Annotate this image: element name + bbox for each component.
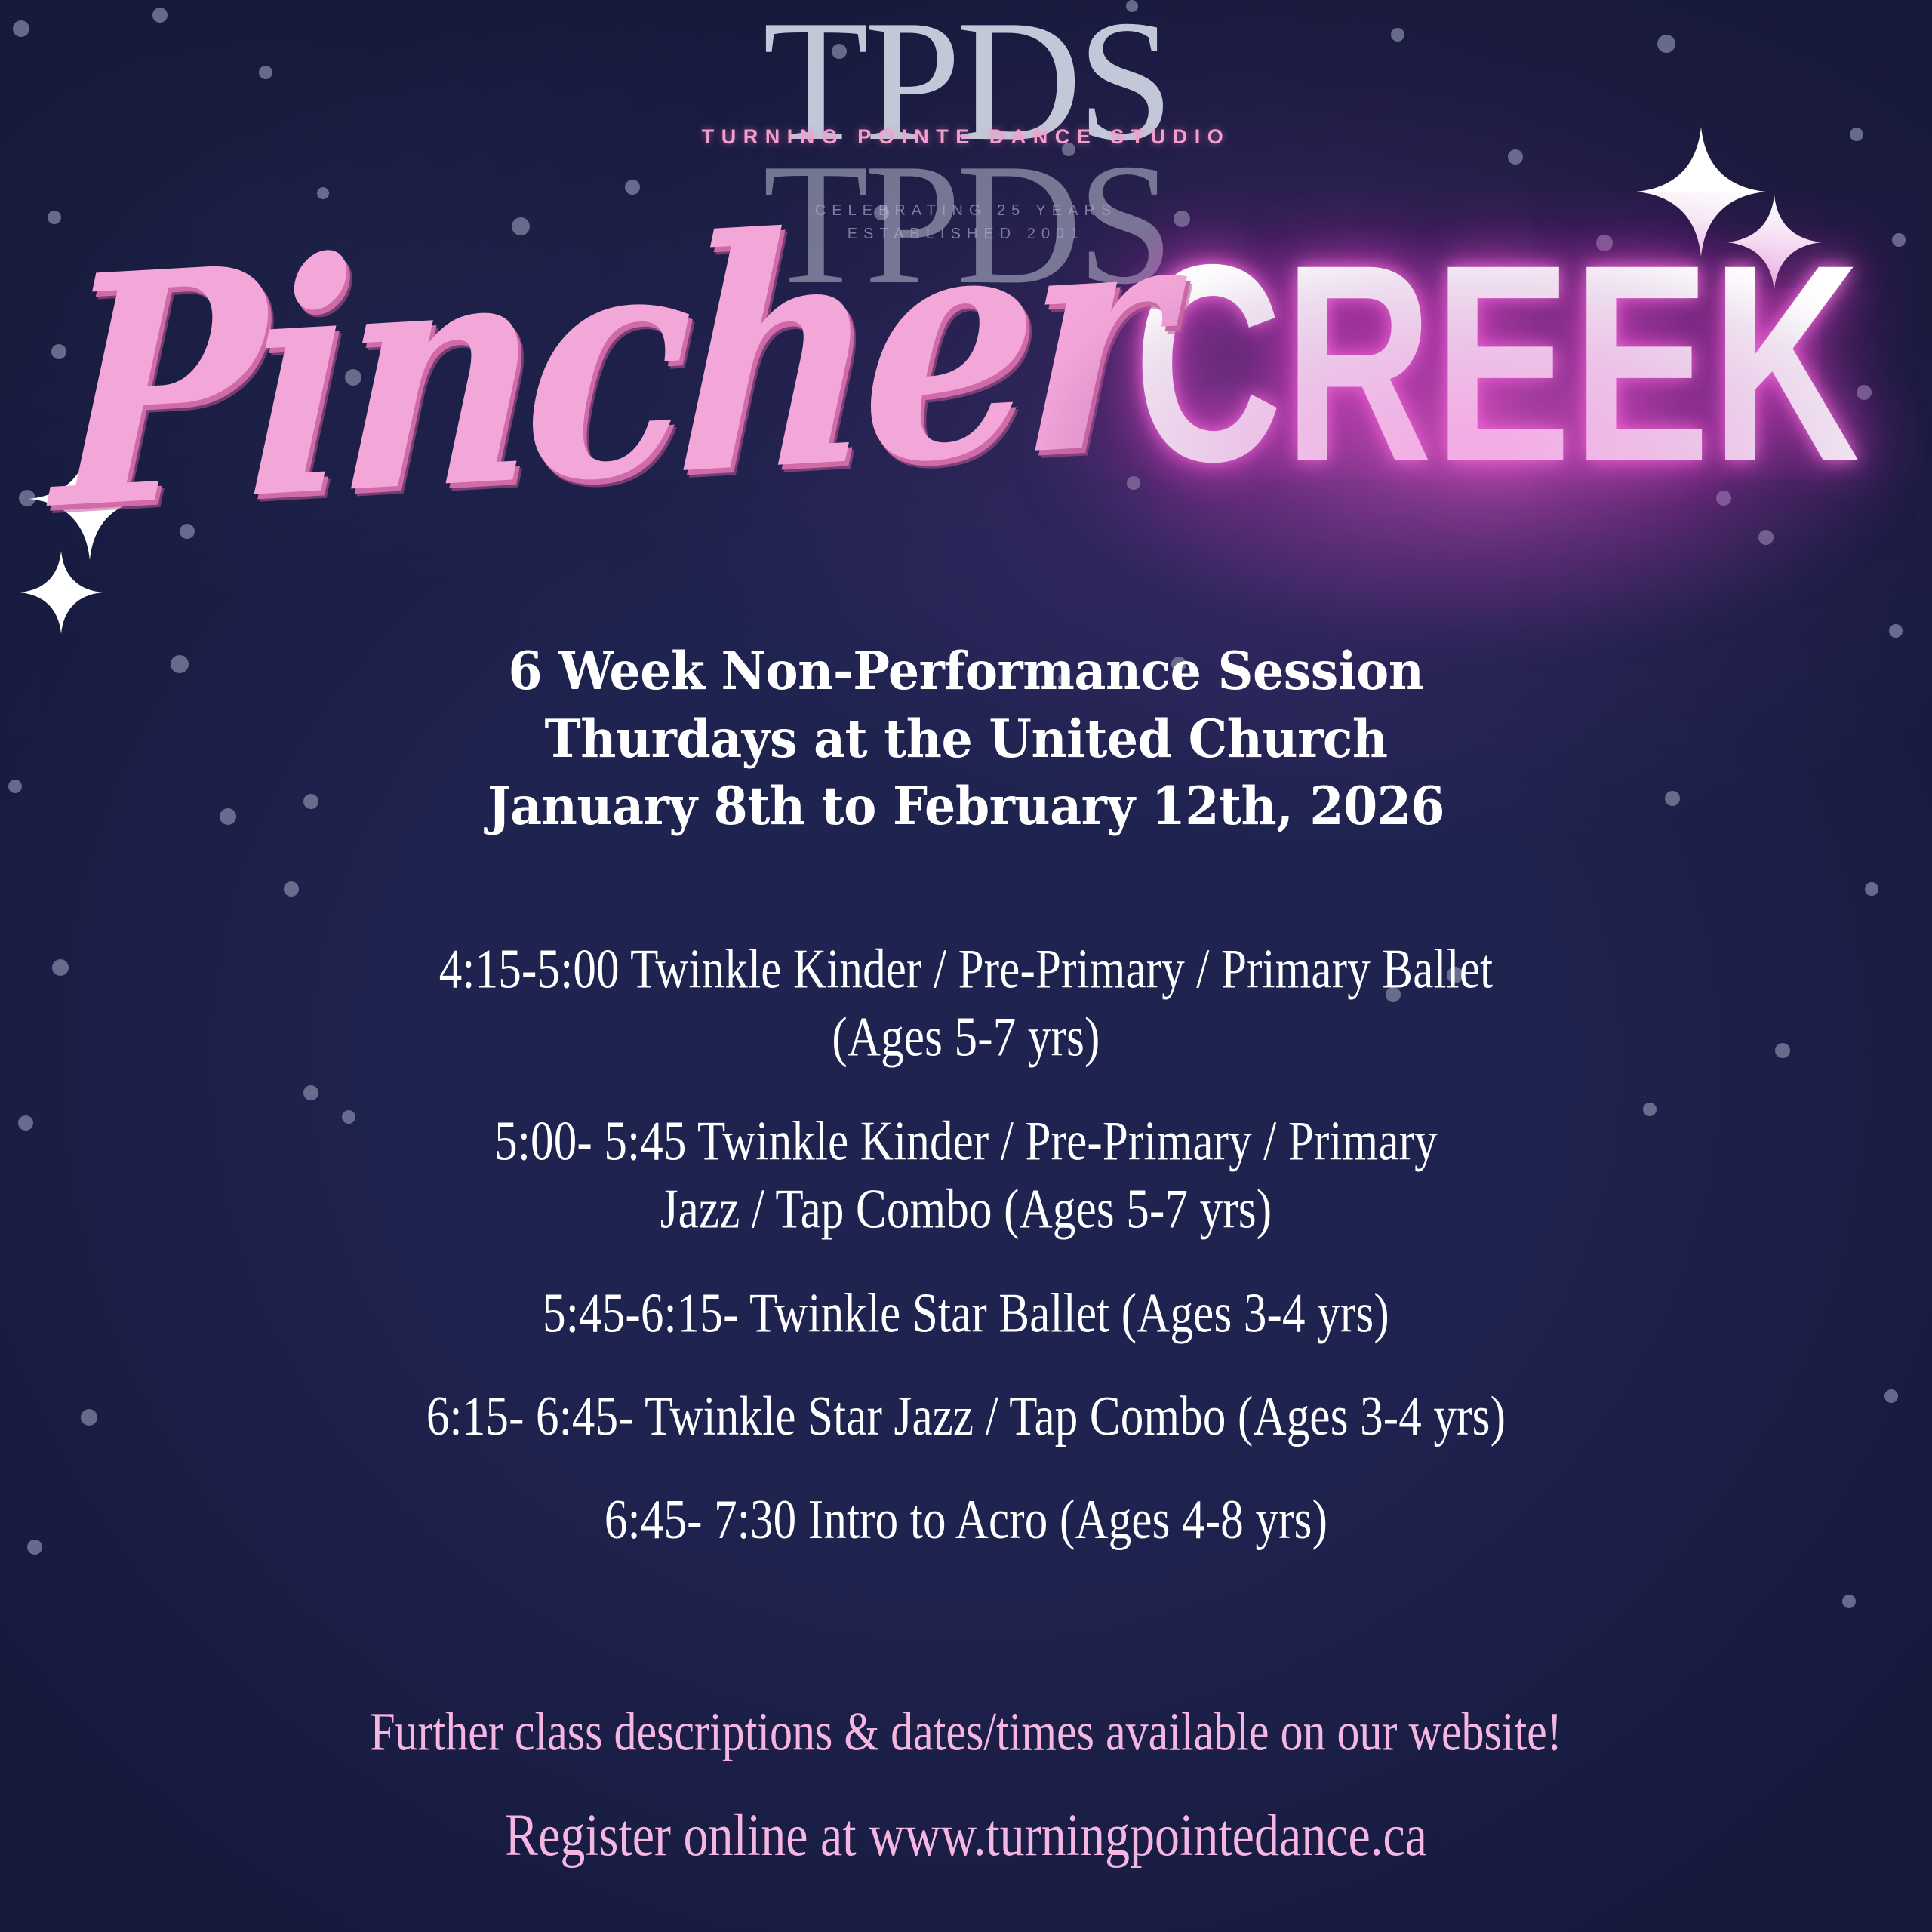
- subtitle-line-3: January 8th to February 12th, 2026: [58, 773, 1874, 841]
- schedule-item: 4:15-5:00 Twinkle Kinder / Pre-Primary /…: [113, 936, 1819, 1073]
- decor-dot: [18, 1115, 33, 1131]
- session-subtitle: 6 Week Non-Performance Session Thurdays …: [58, 638, 1874, 841]
- headline-inner: Pincher CREEK: [57, 252, 1847, 475]
- headline: Pincher CREEK: [0, 175, 1932, 552]
- schedule-item: 6:45- 7:30 Intro to Acro (Ages 4-8 yrs): [113, 1487, 1819, 1555]
- poster-canvas: TPDS TPDS TURNING POINTE DANCE STUDIO CE…: [0, 0, 1932, 1932]
- schedule-item: 6:15- 6:45- Twinkle Star Jazz / Tap Comb…: [113, 1383, 1819, 1452]
- decor-dot: [8, 780, 22, 793]
- decor-dot: [1884, 1389, 1898, 1403]
- schedule-item-line-1: 6:45- 7:30 Intro to Acro (Ages 4-8 yrs): [113, 1487, 1819, 1555]
- subtitle-line-2: Thurdays at the United Church: [58, 706, 1874, 774]
- decor-dot: [284, 881, 299, 897]
- decor-dot: [27, 1540, 42, 1555]
- logo-tagline: TURNING POINTE DANCE STUDIO: [679, 125, 1253, 149]
- decor-dot: [1842, 1595, 1856, 1608]
- schedule-item-line-2: (Ages 5-7 yrs): [113, 1004, 1819, 1073]
- decor-dot: [1889, 624, 1903, 638]
- schedule-item: 5:45-6:15- Twinkle Star Ballet (Ages 3-4…: [113, 1280, 1819, 1349]
- footer-info: Further class descriptions & dates/times…: [0, 1702, 1932, 1869]
- headline-block-word: CREEK: [1134, 245, 1861, 483]
- decor-dot: [52, 959, 69, 976]
- decor-dot: [81, 1409, 97, 1426]
- schedule-item-line-2: Jazz / Tap Combo (Ages 5-7 yrs): [113, 1177, 1819, 1245]
- footer-descriptions-note: Further class descriptions & dates/times…: [0, 1702, 1932, 1761]
- schedule-item: 5:00- 5:45 Twinkle Kinder / Pre-Primary …: [113, 1108, 1819, 1245]
- headline-script-word: Pincher: [52, 203, 1162, 524]
- subtitle-line-1: 6 Week Non-Performance Session: [58, 638, 1874, 706]
- class-schedule-list: 4:15-5:00 Twinkle Kinder / Pre-Primary /…: [113, 936, 1819, 1590]
- schedule-item-line-1: 5:00- 5:45 Twinkle Kinder / Pre-Primary …: [113, 1108, 1819, 1177]
- schedule-item-line-1: 5:45-6:15- Twinkle Star Ballet (Ages 3-4…: [113, 1280, 1819, 1349]
- decor-dot: [1865, 882, 1878, 896]
- footer-register-url[interactable]: Register online at www.turningpointedanc…: [0, 1803, 1932, 1869]
- schedule-item-line-1: 4:15-5:00 Twinkle Kinder / Pre-Primary /…: [113, 936, 1819, 1004]
- schedule-item-line-1: 6:15- 6:45- Twinkle Star Jazz / Tap Comb…: [113, 1383, 1819, 1452]
